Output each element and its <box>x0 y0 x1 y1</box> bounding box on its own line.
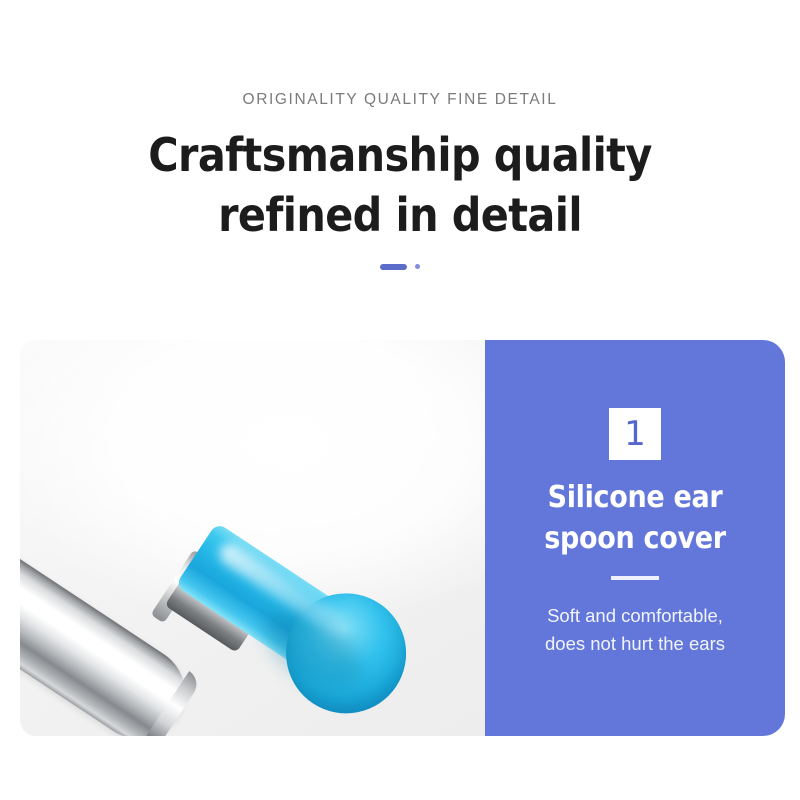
feature-number-badge: 1 <box>609 408 661 460</box>
page-header: ORIGINALITY QUALITY FINE DETAIL Craftsma… <box>0 0 800 273</box>
feature-title: Silicone ear spoon cover <box>544 478 726 560</box>
page-title: Craftsmanship quality refined in detail <box>0 125 800 246</box>
feature-title-line-1: Silicone ear <box>544 478 726 519</box>
feature-info-panel: 1 Silicone ear spoon cover Soft and comf… <box>485 340 785 736</box>
feature-title-line-2: spoon cover <box>544 519 726 560</box>
divider-dot-icon <box>415 264 420 269</box>
feature-description: Soft and comfortable, does not hurt the … <box>545 602 725 658</box>
divider-bar-icon <box>380 264 407 270</box>
eyebrow-text: ORIGINALITY QUALITY FINE DETAIL <box>0 92 800 108</box>
feature-description-line-2: does not hurt the ears <box>545 630 725 658</box>
decorative-divider <box>0 261 800 273</box>
page-title-line-1: Craftsmanship quality <box>0 125 800 186</box>
feature-description-line-1: Soft and comfortable, <box>545 602 725 630</box>
page-title-line-2: refined in detail <box>0 185 800 246</box>
product-photo-panel <box>20 340 485 736</box>
feature-title-underline <box>611 576 659 580</box>
feature-card: 1 Silicone ear spoon cover Soft and comf… <box>20 340 785 736</box>
